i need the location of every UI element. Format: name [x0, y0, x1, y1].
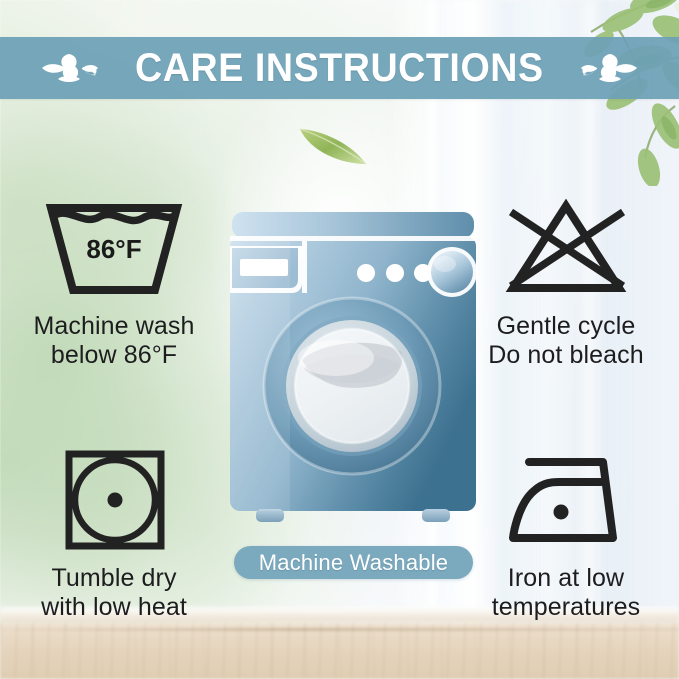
- washing-machine-illustration: [224, 210, 482, 540]
- care-symbol-caption: Tumble dry with low heat: [14, 564, 214, 622]
- machine-foot: [422, 509, 450, 522]
- badge-label: Machine Washable: [259, 552, 448, 574]
- wash-tub-icon: 86°F: [14, 188, 214, 308]
- caption-line-2: Do not bleach: [466, 341, 666, 370]
- care-symbol-caption: Machine wash below 86°F: [14, 312, 214, 370]
- care-symbol-machine-wash: 86°F Machine wash below 86°F: [14, 188, 214, 370]
- care-symbol-no-bleach: Gentle cycle Do not bleach: [466, 188, 666, 370]
- machine-dial: [431, 251, 473, 293]
- banner: CARE INSTRUCTIONS: [0, 37, 679, 99]
- status-badge: Machine Washable: [234, 546, 473, 579]
- care-symbol-tumble-dry: Tumble dry with low heat: [14, 440, 214, 622]
- caption-line-2: temperatures: [466, 593, 666, 622]
- tumble-dry-low-icon: [14, 440, 214, 560]
- wash-temperature-value: 86°F: [86, 234, 141, 264]
- machine-button: [357, 264, 375, 282]
- leaf-icon: [296, 120, 370, 170]
- caption-line-1: Tumble dry: [14, 564, 214, 593]
- care-symbol-caption: Gentle cycle Do not bleach: [466, 312, 666, 370]
- caption-line-1: Iron at low: [466, 564, 666, 593]
- wooden-table-seam: [0, 628, 679, 631]
- care-instructions-infographic: CARE INSTRUCTIONS 86°F Machine wash: [0, 0, 679, 679]
- caption-line-1: Machine wash: [14, 312, 214, 341]
- wooden-table-surface: [0, 623, 679, 679]
- care-symbol-iron: Iron at low temperatures: [466, 440, 666, 622]
- iron-low-icon: [466, 440, 666, 560]
- page-title: CARE INSTRUCTIONS: [135, 48, 544, 88]
- caption-line-2: with low heat: [14, 593, 214, 622]
- caption-line-1: Gentle cycle: [466, 312, 666, 341]
- machine-button: [386, 264, 404, 282]
- care-symbol-caption: Iron at low temperatures: [466, 564, 666, 622]
- fleur-de-lis-ornament-left: [38, 48, 100, 88]
- fleur-de-lis-ornament-right: [579, 48, 641, 88]
- caption-line-2: below 86°F: [14, 341, 214, 370]
- triangle-crossed-icon: [466, 188, 666, 308]
